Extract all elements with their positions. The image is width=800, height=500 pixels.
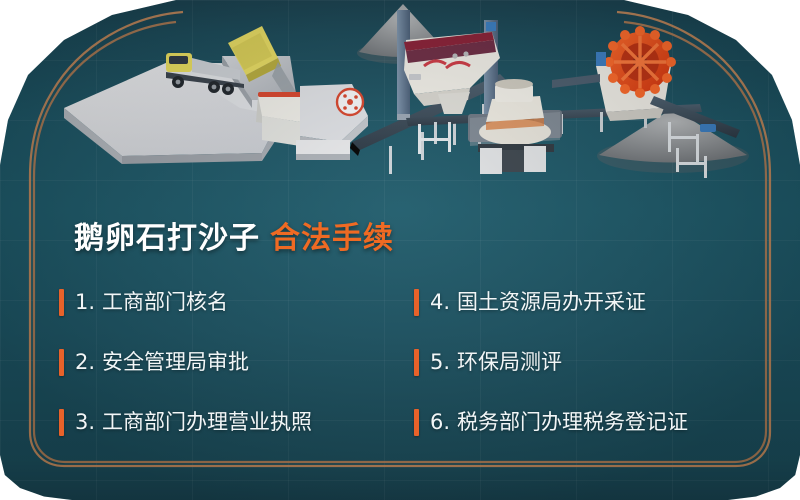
list-item-label: 安全管理局审批 [102,352,249,373]
list-item-number: 3. [75,412,95,433]
list-item-number: 1. [75,292,95,313]
list-item: 4. 国土资源局办开采证 [408,272,756,332]
bullet-bar-icon [414,289,419,316]
list-item: 5. 环保局测评 [408,332,756,392]
page-title: 鹅卵石打沙子合法手续 [74,213,394,257]
list-item-label: 环保局测评 [457,352,562,373]
list-item: 3. 工商部门办理营业执照 [56,392,408,452]
list-item-number: 5. [430,352,450,373]
list-item: 6. 税务部门办理税务登记证 [408,392,756,452]
bullet-bar-icon [414,409,419,436]
list-item: 1. 工商部门核名 [56,272,408,332]
list-item-label: 税务部门办理税务登记证 [457,412,688,433]
list-row: 2. 安全管理局审批 5. 环保局测评 [56,332,756,392]
list-item-number: 2. [75,352,95,373]
bullet-bar-icon [59,349,64,376]
bullet-bar-icon [59,289,64,316]
bullet-bar-icon [414,349,419,376]
list-item: 2. 安全管理局审批 [56,332,408,392]
list-item-number: 4. [430,292,450,313]
list-row: 1. 工商部门核名 4. 国土资源局办开采证 [56,272,756,332]
procedure-list: 1. 工商部门核名 4. 国土资源局办开采证 2. 安全管理局审批 5. 环保局… [56,272,756,452]
headline-white-part: 鹅卵石打沙子 [74,222,260,255]
headline-orange-part: 合法手续 [270,222,394,255]
list-item-label: 工商部门核名 [102,292,228,313]
list-row: 3. 工商部门办理营业执照 6. 税务部门办理税务登记证 [56,392,756,452]
production-line-illustration [0,0,800,226]
poster-canvas: 鹅卵石打沙子合法手续 1. 工商部门核名 4. 国土资源局办开采证 2. 安全管… [0,0,800,500]
list-item-label: 国土资源局办开采证 [457,292,646,313]
list-item-number: 6. [430,412,450,433]
bullet-bar-icon [59,409,64,436]
list-item-label: 工商部门办理营业执照 [102,412,312,433]
